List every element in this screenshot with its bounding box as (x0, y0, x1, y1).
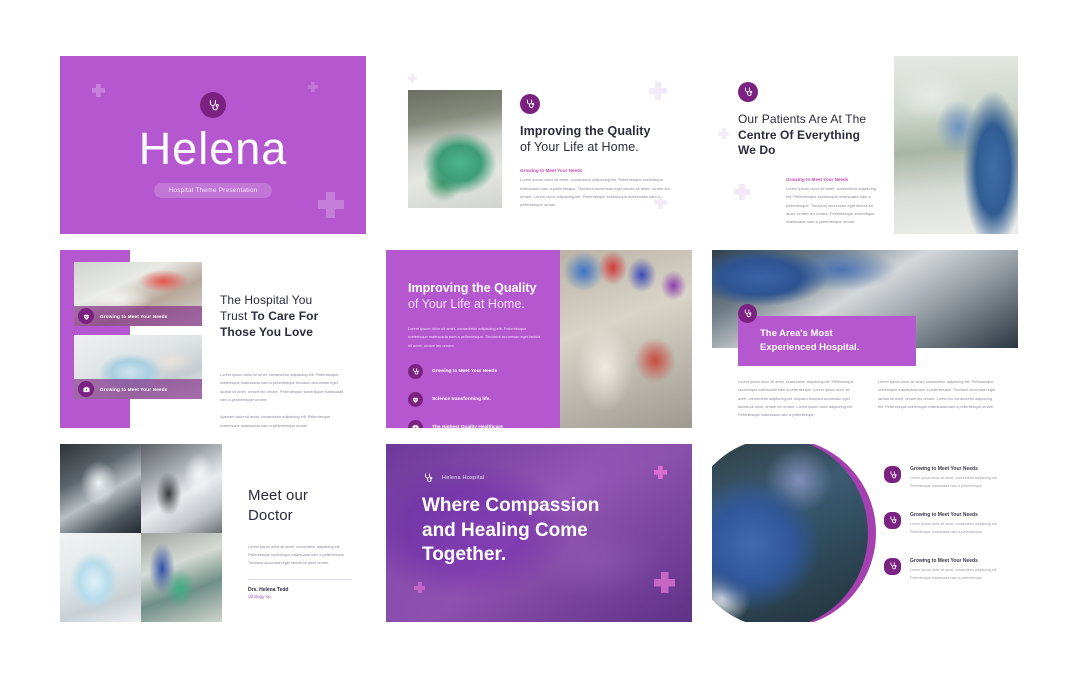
brand-label: Helena Hospital (442, 475, 485, 481)
feature-list: Growing to Meet Your Needs Lorem ipsum d… (884, 466, 1004, 603)
slide-image (408, 90, 502, 208)
plus-icon (649, 82, 667, 100)
slide-heading: Our Patients Are At The Centre Of Everyt… (738, 112, 882, 159)
slide-image (60, 533, 141, 622)
slide-where-compassion[interactable]: Helena Hospital Where Compassion and Hea… (386, 444, 692, 622)
body-paragraph-2: Aperiam dolor sit amet, consectetur adip… (220, 413, 348, 428)
slide-body-text: Lorem ipsum dolor sit amet, consectetur … (738, 185, 882, 227)
heading-line-1: Improving the Quality (408, 280, 542, 296)
heart-pulse-icon (408, 392, 423, 407)
slide-patients-centre[interactable]: Our Patients Are At The Centre Of Everyt… (712, 56, 1018, 234)
heading-line-1: Meet our (248, 486, 352, 506)
list-item[interactable]: The Highest Quality Healthcare (408, 420, 542, 428)
image-caption-band: Growing to Meet Your Needs (74, 379, 202, 399)
list-item-title: Growing to Meet Your Needs (910, 466, 1004, 472)
heading-overlay-box: The Area's Most Experienced Hospital. (738, 316, 916, 366)
slide-subtitle: Growing to Meet Your Needs (738, 177, 882, 182)
slide-image (141, 533, 222, 622)
heading-line-1: Improving the Quality (520, 124, 674, 140)
heading-line-1: The Area's Most (760, 327, 859, 341)
plus-icon (718, 128, 729, 139)
page-title: Helena (139, 126, 288, 171)
heading-line-2: Centre Of Everything (738, 128, 882, 144)
stethoscope-icon (884, 512, 901, 529)
plus-icon (654, 466, 667, 479)
stethoscope-icon (738, 304, 757, 323)
subtitle-pill: Hospital Theme Presentation (154, 183, 271, 198)
slide-image (560, 250, 692, 428)
medical-bag-icon (408, 420, 423, 428)
slide-cover[interactable]: Helena Hospital Theme Presentation (60, 56, 366, 234)
stethoscope-icon (422, 472, 434, 484)
plus-icon (654, 572, 675, 593)
slide-hospital-you-trust[interactable]: Growing to Meet Your Needs Growing to Me… (60, 250, 366, 428)
image-card: Growing to Meet Your Needs (74, 335, 202, 399)
stethoscope-icon (884, 466, 901, 483)
heading-line-1: The Hospital You (220, 292, 348, 308)
circle-ring-accent (712, 444, 876, 622)
list-item-label: The Highest Quality Healthcare (432, 425, 503, 428)
divider (248, 579, 352, 580)
slide-image (894, 56, 1018, 234)
slide-heading: Meet our Doctor (248, 486, 352, 527)
plus-icon (414, 582, 425, 593)
slide-body-text: Lorem ipsum dolor sit amet, consectetur … (520, 176, 674, 210)
list-item-text: Lorem ipsum dolor sit amet, consectetur … (910, 475, 1004, 491)
slide-body-text: Lorem ipsum dolor sit amet, consectetur … (408, 325, 542, 351)
slide-image (712, 444, 868, 622)
brand-lockup: Helena Hospital (422, 472, 485, 484)
heading-line-1: Our Patients Are At The (738, 112, 882, 128)
plus-icon (734, 184, 750, 200)
heading-line-2: and Healing Come (422, 519, 656, 544)
list-item-text: Lorem ipsum dolor sit amet, consectetur … (910, 521, 1004, 537)
list-item[interactable]: Growing to Meet Your Needs Lorem ipsum d… (884, 512, 1004, 537)
list-item-text: Lorem ipsum dolor sit amet, consectetur … (910, 567, 1004, 583)
circle-image-mask (712, 444, 868, 622)
heart-pulse-icon (78, 308, 94, 324)
image-caption-label: Growing to Meet Your Needs (100, 314, 168, 319)
slide-body-text: Lorem ipsum dolor sit amet, consectetur … (220, 371, 348, 428)
heading-line-2: of Your Life at Home. (408, 296, 542, 312)
slide-feature-list-circle[interactable]: Growing to Meet Your Needs Lorem ipsum d… (712, 444, 1018, 622)
image-grid (60, 444, 222, 622)
image-caption-label: Growing to Meet Your Needs (100, 387, 168, 392)
slide-heading: Where Compassion and Healing Come Togeth… (422, 494, 656, 568)
slide-most-experienced[interactable]: The Area's Most Experienced Hospital. Lo… (712, 250, 1018, 428)
plus-icon (92, 84, 105, 97)
list-item[interactable]: Science transforming life. (408, 392, 542, 407)
plus-icon (654, 196, 667, 209)
stethoscope-icon (738, 82, 758, 102)
heading-line-3: Those You Love (220, 324, 348, 340)
slide-heading: The Hospital You Trust To Care For Those… (220, 292, 348, 341)
list-item[interactable]: Growing to Meet Your Needs (408, 364, 542, 379)
body-paragraph-1: Lorem ipsum dolor sit amet, consectetur … (220, 371, 348, 405)
slide-image (60, 444, 141, 533)
heading-line-2: of Your Life at Home. (520, 140, 674, 156)
doctor-name: Drs. Helena Tedd (248, 587, 352, 593)
heading-line-2: Experienced Hospital. (760, 341, 859, 355)
slide-heading: The Area's Most Experienced Hospital. (760, 327, 859, 355)
heading-line-3: Together. (422, 543, 656, 568)
slide-improving-quality[interactable]: Improving the Quality of Your Life at Ho… (386, 56, 692, 234)
doctor-role: Virology sp. (248, 594, 352, 599)
slide-subtitle: Growing to Meet Your Needs (520, 168, 674, 173)
stethoscope-icon (520, 94, 540, 114)
slide-meet-our-doctor[interactable]: Meet our Doctor Lorem ipsum dolor sit am… (60, 444, 366, 622)
plus-icon (308, 82, 318, 92)
heading-line-2: Doctor (248, 506, 352, 526)
image-card: Growing to Meet Your Needs (74, 262, 202, 326)
list-item-label: Growing to Meet Your Needs (432, 369, 497, 374)
heading-line-2: Trust To Care For (220, 308, 348, 324)
slide-image (141, 444, 222, 533)
list-item-label: Science transforming life. (432, 397, 491, 402)
slide-body-text: Lorem ipsum dolor sit amet, consectetur … (248, 543, 352, 568)
body-columns: Lorem ipsum dolor sit amet, consectetur … (738, 378, 998, 420)
plus-icon (318, 192, 344, 218)
body-column-1: Lorem ipsum dolor sit amet, consectetur … (738, 378, 858, 420)
heading-line-3: We Do (738, 143, 882, 159)
stethoscope-icon (200, 92, 226, 118)
list-item[interactable]: Growing to Meet Your Needs Lorem ipsum d… (884, 558, 1004, 583)
medical-bag-icon (78, 381, 94, 397)
slide-heading: Improving the Quality of Your Life at Ho… (408, 280, 542, 313)
list-item-title: Growing to Meet Your Needs (910, 512, 1004, 518)
feature-list: Growing to Meet Your Needs Science trans… (408, 364, 542, 428)
heading-line-1: Where Compassion (422, 494, 656, 519)
stethoscope-icon (884, 558, 901, 575)
plus-icon (408, 74, 417, 83)
presentation-template-preview-grid: Helena Hospital Theme Presentation Impro… (0, 0, 1080, 676)
slide-improving-quality-purple[interactable]: Improving the Quality of Your Life at Ho… (386, 250, 692, 428)
slide-heading: Improving the Quality of Your Life at Ho… (520, 124, 674, 155)
cover-background: Helena Hospital Theme Presentation (60, 56, 366, 234)
stethoscope-icon (408, 364, 423, 379)
list-item-title: Growing to Meet Your Needs (910, 558, 1004, 564)
body-column-2: Lorem ipsum dolor sit amet, consectetur … (878, 378, 998, 420)
image-caption-band: Growing to Meet Your Needs (74, 306, 202, 326)
list-item[interactable]: Growing to Meet Your Needs Lorem ipsum d… (884, 466, 1004, 491)
